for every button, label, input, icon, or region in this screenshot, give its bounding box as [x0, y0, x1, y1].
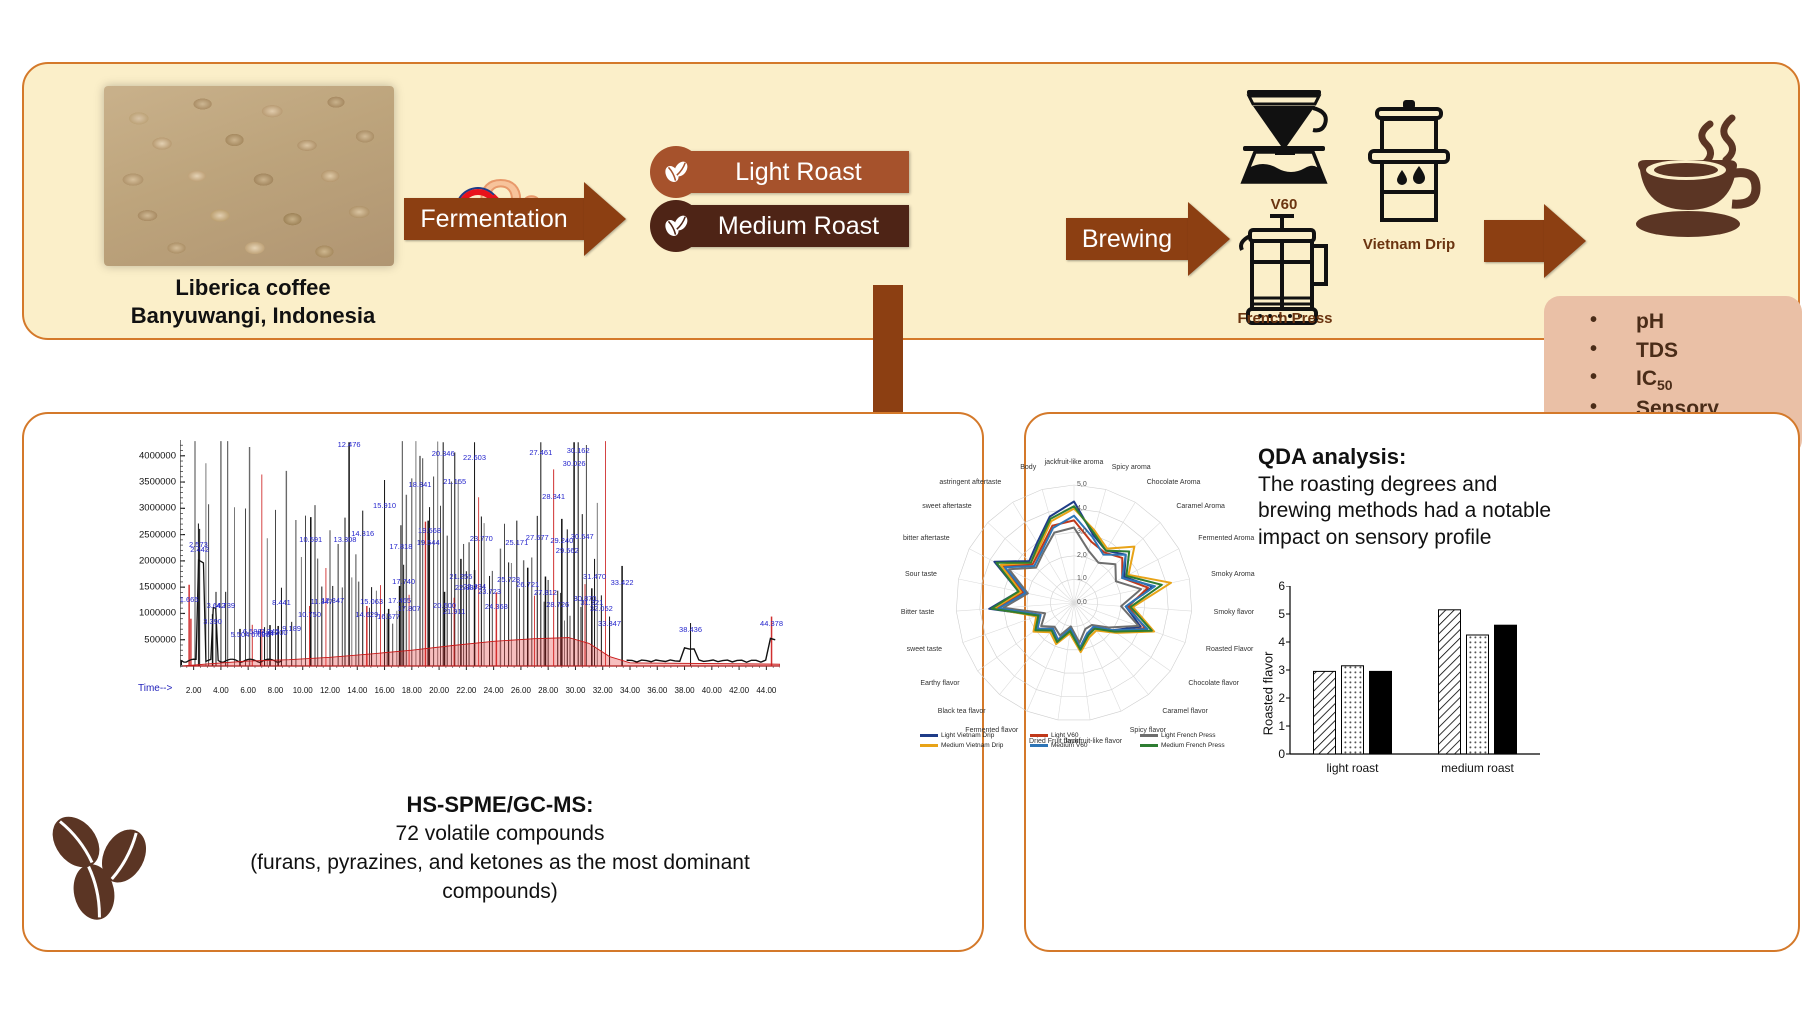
chromatogram-peak-label: 22.603: [463, 453, 486, 462]
bar-y-tick: 6: [1278, 579, 1290, 593]
radar-axis-label: Roasted Flavor: [1206, 646, 1253, 653]
radar-axis-label: astringent aftertaste: [898, 479, 1001, 486]
qda-text-block: QDA analysis: The roasting degrees and b…: [1258, 444, 1588, 551]
source-caption-line1: Liberica coffee: [58, 274, 448, 302]
chromatogram-y-tick: 1500000: [139, 582, 180, 593]
radar-radial-tick: 5,0: [1077, 481, 1087, 488]
vietnam-drip-label: Vietnam Drip: [1343, 236, 1475, 253]
roasted-flavor-bar-chart: Roasted flavor 0123456 light roastmedium…: [1274, 586, 1544, 786]
result-arrow: [1484, 204, 1586, 278]
light-roast-chip[interactable]: Light Roast: [664, 151, 909, 193]
chromatogram-peak-label: 33.422: [611, 578, 634, 587]
legend-label: Light V60: [1051, 732, 1078, 739]
chromatogram-peak-label: 14.629: [355, 610, 378, 619]
chromatogram-peak-label: 32.052: [590, 604, 613, 613]
coffee-bean-icon: [650, 146, 702, 198]
chromatogram-peak-label: 1.665: [180, 595, 199, 604]
graphical-abstract: Liberica coffee Banyuwangi, Indonesia O2…: [0, 0, 1820, 1024]
chromatogram-peak-label: 2.442: [190, 545, 209, 554]
brewing-arrow: Brewing: [1066, 202, 1230, 276]
chromatogram-peak-label: 10.591: [299, 535, 322, 544]
chromatogram-peak-label: 33.347: [598, 619, 621, 628]
measure-ph: pH: [1636, 310, 1664, 333]
chromatogram-peak-label: 16.577: [377, 612, 400, 621]
radar-axis-label: Caramel Aroma: [1176, 503, 1225, 510]
legend-label: Medium V60: [1051, 742, 1088, 749]
radar-legend-item: Medium Vietnam Drip: [920, 742, 1030, 749]
gcms-caption-line3: (furans, pyrazines, and ketones as the m…: [40, 849, 960, 878]
source-caption: Liberica coffee Banyuwangi, Indonesia: [58, 274, 448, 330]
chromatogram-peak-label: 28.341: [542, 492, 565, 501]
chromatogram-peak-label: 20.346: [432, 449, 455, 458]
gcms-caption-line2: 72 volatile compounds: [40, 820, 960, 849]
legend-swatch: [1140, 734, 1158, 737]
chromatogram-peak-label: 8.441: [272, 598, 291, 607]
chromatogram-peak-label: 23.723: [478, 587, 501, 596]
chromatogram-y-tick: 2500000: [139, 529, 180, 540]
bar: [1439, 610, 1461, 754]
radar-axis-label: Earthy flavor: [898, 680, 960, 687]
chromatogram-x-tick: 12.00: [320, 686, 340, 695]
chromatogram-y-tick: 3000000: [139, 503, 180, 514]
chromatogram-x-tick: 26.00: [511, 686, 531, 695]
chromatogram-peak-label: 27.461: [529, 448, 552, 457]
chromatogram-x-tick: 28.00: [538, 686, 558, 695]
legend-label: Medium French Press: [1161, 742, 1225, 749]
chromatogram-peak-label: 30.026: [563, 459, 586, 468]
chromatogram-x-tick: 20.00: [429, 686, 449, 695]
chromatogram-peak-label: 23.770: [470, 534, 493, 543]
radar-series: [1003, 528, 1141, 643]
bar-y-tick: 4: [1278, 635, 1290, 649]
fermentation-arrow: Fermentation: [404, 182, 626, 256]
radar-axis-label: Body: [898, 464, 1036, 471]
chromatogram-x-tick: 36.00: [647, 686, 667, 695]
measure-ic50-subscript: 50: [1657, 377, 1673, 393]
legend-swatch: [1140, 744, 1158, 747]
qda-title: QDA analysis:: [1258, 444, 1588, 470]
v60-label: V60: [1229, 196, 1339, 213]
chromatogram-x-tick: 10.00: [293, 686, 313, 695]
chromatogram-peak-label: 12.476: [338, 440, 361, 449]
chromatogram-peak-label: 21.255: [449, 572, 472, 581]
chromatogram-y-tick: 3500000: [139, 477, 180, 488]
chromatogram-peak-label: 27.812: [534, 588, 557, 597]
legend-swatch: [920, 734, 938, 737]
chromatogram-x-tick: 14.00: [347, 686, 367, 695]
radar-radial-tick: 2,0: [1077, 552, 1087, 559]
workflow-panel: Liberica coffee Banyuwangi, Indonesia O2…: [22, 62, 1800, 340]
chromatogram-peak-label: 17.807: [398, 604, 421, 613]
chromatogram-peak-label: 19.544: [417, 538, 440, 547]
coffee-bean-icon: [650, 200, 702, 252]
chromatogram-peak-label: 30.547: [571, 532, 594, 541]
radar-axis-label: sweet aftertaste: [898, 503, 972, 510]
radar-legend-item: Medium V60: [1030, 742, 1140, 749]
radar-axis-label: Fermented Aroma: [1198, 535, 1254, 542]
bar-chart-svg: [1274, 586, 1544, 786]
qda-line1: The roasting degrees and: [1258, 472, 1588, 498]
chromatogram-y-tick: 500000: [144, 634, 180, 645]
chromatogram-peak-label: 9.189: [282, 624, 301, 633]
radar-legend-item: Light V60: [1030, 732, 1140, 739]
gcms-caption-line4: compounds): [40, 878, 960, 907]
green-coffee-beans-photo: [104, 86, 394, 266]
gcms-caption: HS-SPME/GC-MS: 72 volatile compounds (fu…: [40, 790, 960, 907]
chromatogram-peak-label: 38.436: [679, 625, 702, 634]
chromatogram-time-axis-label: Time-->: [138, 683, 172, 694]
legend-label: Medium Vietnam Drip: [941, 742, 1003, 749]
coffee-cup-icon: [1614, 112, 1774, 252]
bar: [1314, 671, 1336, 754]
chromatogram-x-tick: 18.00: [402, 686, 422, 695]
bar-y-tick: 5: [1278, 607, 1290, 621]
chromatogram-peak-label: 28.726: [546, 600, 569, 609]
chromatogram-x-tick: 32.00: [593, 686, 613, 695]
radar-axis-label: Chocolate flavor: [1188, 680, 1239, 687]
radar-axis-label: Spicy aroma: [1112, 464, 1151, 471]
chromatogram-peak-label: 31.470: [583, 572, 606, 581]
radar-legend: Light Vietnam DripLight V60Light French …: [920, 732, 1250, 752]
legend-swatch: [1030, 734, 1048, 737]
chromatogram-x-tick: 44.00: [756, 686, 776, 695]
chromatogram-peak-label: 3.390: [203, 617, 222, 626]
radar-axis-label: Black tea flavor: [898, 708, 986, 715]
brewing-label: Brewing: [1082, 225, 1172, 254]
radar-axis-label: Chocolate Aroma: [1147, 479, 1201, 486]
bar-y-tick: 2: [1278, 691, 1290, 705]
radar-legend-item: Light Vietnam Drip: [920, 732, 1030, 739]
chromatogram-peak-label: 17.818: [389, 542, 412, 551]
measure-ic50: IC: [1636, 367, 1657, 390]
chromatogram-x-tick: 34.00: [620, 686, 640, 695]
radar-radial-tick: 4,0: [1077, 505, 1087, 512]
radar-svg: [898, 438, 1250, 768]
gcms-caption-title: HS-SPME/GC-MS:: [40, 790, 960, 820]
chromatogram-x-tick: 2.00: [186, 686, 202, 695]
chromatogram-x-tick: 4.00: [213, 686, 229, 695]
legend-label: Light French Press: [1161, 732, 1216, 739]
bar-y-tick: 3: [1278, 663, 1290, 677]
qda-radar-chart: jackfruit-like aromaSpicy aromaChocolate…: [898, 438, 1250, 768]
french-press-label: French Press: [1214, 310, 1356, 327]
chromatogram-x-tick: 16.00: [375, 686, 395, 695]
bar-x-tick: light roast: [1326, 761, 1378, 775]
chromatogram-x-tick: 6.00: [240, 686, 256, 695]
radar-radial-tick: 1,0: [1077, 575, 1087, 582]
legend-label: Light Vietnam Drip: [941, 732, 994, 739]
chromatogram-y-tick: 4000000: [139, 450, 180, 461]
chromatogram-peak-label: 15.910: [373, 501, 396, 510]
chromatogram-peak-label: 24.368: [485, 602, 508, 611]
radar-axis-label: Bitter taste: [898, 609, 934, 616]
chromatogram-peak-label: 29.562: [556, 546, 579, 555]
chromatogram-peak-label: 21.155: [443, 477, 466, 486]
chromatogram-peak-label: 12.347: [321, 596, 344, 605]
chromatogram-x-tick: 24.00: [484, 686, 504, 695]
chromatogram-peak-label: 19.568: [418, 526, 441, 535]
radar-axis-label: Sour taste: [898, 571, 937, 578]
chromatogram-peak-label: 10.750: [298, 610, 321, 619]
radar-radial-tick: 0,0: [1077, 599, 1087, 606]
radar-axis-label: Caramel flavor: [1162, 708, 1208, 715]
list-item: pH: [1590, 308, 1802, 337]
bar: [1467, 635, 1489, 754]
chromatogram-peak-label: 15.063: [360, 597, 383, 606]
chromatogram-peak-label: 14.316: [351, 529, 374, 538]
chromatogram-x-tick: 42.00: [729, 686, 749, 695]
gcms-chromatogram-chart: 5000001000000150000020000002500000300000…: [180, 440, 780, 680]
radar-axis-label: Smoky Aroma: [1211, 571, 1255, 578]
radar-legend-item: Medium French Press: [1140, 742, 1250, 749]
medium-roast-chip[interactable]: Medium Roast: [664, 205, 909, 247]
fermentation-label: Fermentation: [420, 205, 567, 234]
bar: [1370, 671, 1392, 754]
bar-y-tick: 0: [1278, 747, 1290, 761]
chromatogram-svg: [180, 440, 780, 680]
chromatogram-x-tick: 38.00: [675, 686, 695, 695]
chromatogram-x-tick: 30.00: [565, 686, 585, 695]
chromatogram-peak-label: 21.911: [443, 607, 465, 616]
v60-pourover-icon: [1229, 82, 1339, 192]
qda-line2: brewing methods had a notable: [1258, 498, 1588, 524]
bar-x-tick: medium roast: [1441, 761, 1514, 775]
list-item: TDS: [1590, 337, 1802, 366]
chromatogram-peak-label: 30.162: [567, 446, 590, 455]
qda-line3: impact on sensory profile: [1258, 525, 1588, 551]
chromatogram-peak-label: 4.739: [216, 601, 235, 610]
chromatogram-y-tick: 2000000: [139, 555, 180, 566]
chromatogram-x-tick: 8.00: [268, 686, 284, 695]
radar-legend-item: Light French Press: [1140, 732, 1250, 739]
radar-axis-label: Smoky flavor: [1214, 609, 1254, 616]
radar-axis-label: bitter aftertaste: [898, 535, 950, 542]
measure-tds: TDS: [1636, 339, 1678, 362]
bar-y-tick: 1: [1278, 719, 1290, 733]
radar-radial-tick: 3,0: [1077, 528, 1087, 535]
bar: [1495, 625, 1517, 754]
chromatogram-peak-label: 27.577: [526, 533, 549, 542]
radar-axis-label: jackfruit-like aroma: [1045, 459, 1104, 466]
list-item: IC50: [1590, 365, 1802, 395]
legend-swatch: [1030, 744, 1048, 747]
chromatogram-peak-label: 18.341: [409, 480, 432, 489]
chromatogram-x-tick: 22.00: [456, 686, 476, 695]
chromatogram-peak-label: 17.740: [392, 577, 415, 586]
chromatogram-y-tick: 1000000: [139, 608, 180, 619]
vietnam-drip-icon: [1357, 94, 1461, 234]
radar-axis-label: sweet taste: [898, 646, 942, 653]
chromatogram-x-tick: 40.00: [702, 686, 722, 695]
chromatogram-peak-label: 44.378: [760, 619, 783, 628]
bar: [1342, 666, 1364, 754]
legend-swatch: [920, 744, 938, 747]
source-caption-line2: Banyuwangi, Indonesia: [58, 302, 448, 330]
